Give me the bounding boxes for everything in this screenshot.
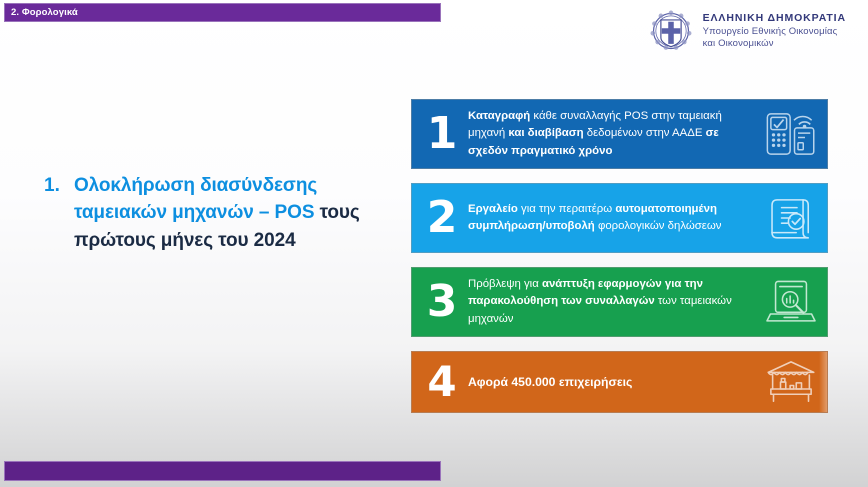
greek-coat-of-arms-icon (648, 8, 694, 54)
card-text: Καταγραφή κάθε συναλλαγής POS στην ταμει… (468, 108, 755, 160)
laptop-analytics-icon (755, 268, 827, 336)
logo-line-ministry-2: και Οικονομικών (703, 38, 846, 50)
card-number: 2 (412, 196, 468, 240)
measure-card[interactable]: 4 Αφορά 450.000 επιχειρήσεις (411, 351, 828, 413)
headline-blue-part: Ολοκλήρωση διασύνδεσης ταμειακών μηχανών… (74, 175, 320, 223)
ministry-logo-block: ΕΛΛΗΝΙΚΗ ΔΗΜΟΚΡΑΤΙΑ Υπουργείο Εθνικής Οι… (648, 8, 846, 54)
card-number: 3 (412, 280, 468, 324)
card-text: Εργαλείο για την περαιτέρω αυτοματοποιημ… (468, 201, 755, 236)
card-text: Πρόβλεψη για ανάπτυξη εφαρμογών για την … (468, 276, 755, 328)
headline-block: 1. Ολοκλήρωση διασύνδεσης ταμειακών μηχα… (44, 172, 374, 254)
bottom-banner (4, 461, 441, 481)
measure-card[interactable]: 3 Πρόβλεψη για ανάπτυξη εφαρμογών για τη… (411, 267, 828, 337)
document-check-icon (755, 184, 827, 252)
logo-line-republic: ΕΛΛΗΝΙΚΗ ΔΗΜΟΚΡΑΤΙΑ (703, 12, 846, 25)
pos-terminal-icon (755, 100, 827, 168)
card-number: 1 (412, 112, 468, 156)
card-number: 4 (412, 361, 468, 403)
logo-line-ministry-1: Υπουργείο Εθνικής Οικονομίας (703, 26, 846, 38)
headline-text: Ολοκλήρωση διασύνδεσης ταμειακών μηχανών… (74, 172, 374, 254)
top-section-banner: 2. Φορολογικά (4, 3, 441, 22)
measure-card[interactable]: 2 Εργαλείο για την περαιτέρω αυτοματοποι… (411, 183, 828, 253)
top-section-label: 2. Φορολογικά (11, 8, 78, 18)
measure-card-list: 1 Καταγραφή κάθε συναλλαγής POS στην ταμ… (411, 99, 828, 413)
ministry-logo-text: ΕΛΛΗΝΙΚΗ ΔΗΜΟΚΡΑΤΙΑ Υπουργείο Εθνικής Οι… (703, 12, 846, 50)
card-text: Αφορά 450.000 επιχειρήσεις (468, 373, 755, 392)
market-stall-icon (755, 352, 827, 412)
headline-number: 1. (44, 172, 74, 254)
measure-card[interactable]: 1 Καταγραφή κάθε συναλλαγής POS στην ταμ… (411, 99, 828, 169)
